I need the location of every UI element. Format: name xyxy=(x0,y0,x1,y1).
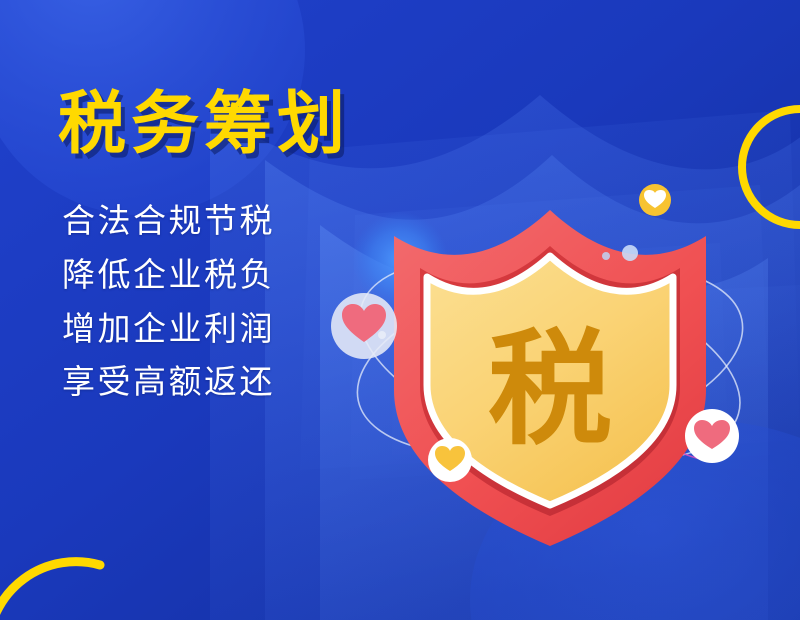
list-item: 合法合规节税 xyxy=(62,194,350,248)
list-item: 降低企业税负 xyxy=(62,248,350,302)
benefit-list: 合法合规节税 降低企业税负 增加企业利润 享受高额返还 xyxy=(62,194,350,409)
heart-badge-top-right xyxy=(639,184,671,216)
shield-character: 税 xyxy=(488,321,612,459)
page-title: 税务筹划 xyxy=(58,88,350,160)
list-item: 增加企业利润 xyxy=(62,302,350,356)
tax-shield-illustration: 税 xyxy=(300,60,800,580)
orbit-dot-upper-right-small xyxy=(602,252,610,260)
heart-badge-bottom-right xyxy=(685,409,739,463)
orbit-dot-upper-right xyxy=(622,245,638,261)
tax-planning-banner: 税 xyxy=(0,0,800,620)
list-item: 享受高额返还 xyxy=(62,355,350,409)
headline-block: 税务筹划 合法合规节税 降低企业税负 增加企业利润 享受高额返还 xyxy=(58,88,350,409)
arc-bottom-left-shape xyxy=(0,562,100,620)
heart-badge-bottom-left xyxy=(428,438,472,482)
